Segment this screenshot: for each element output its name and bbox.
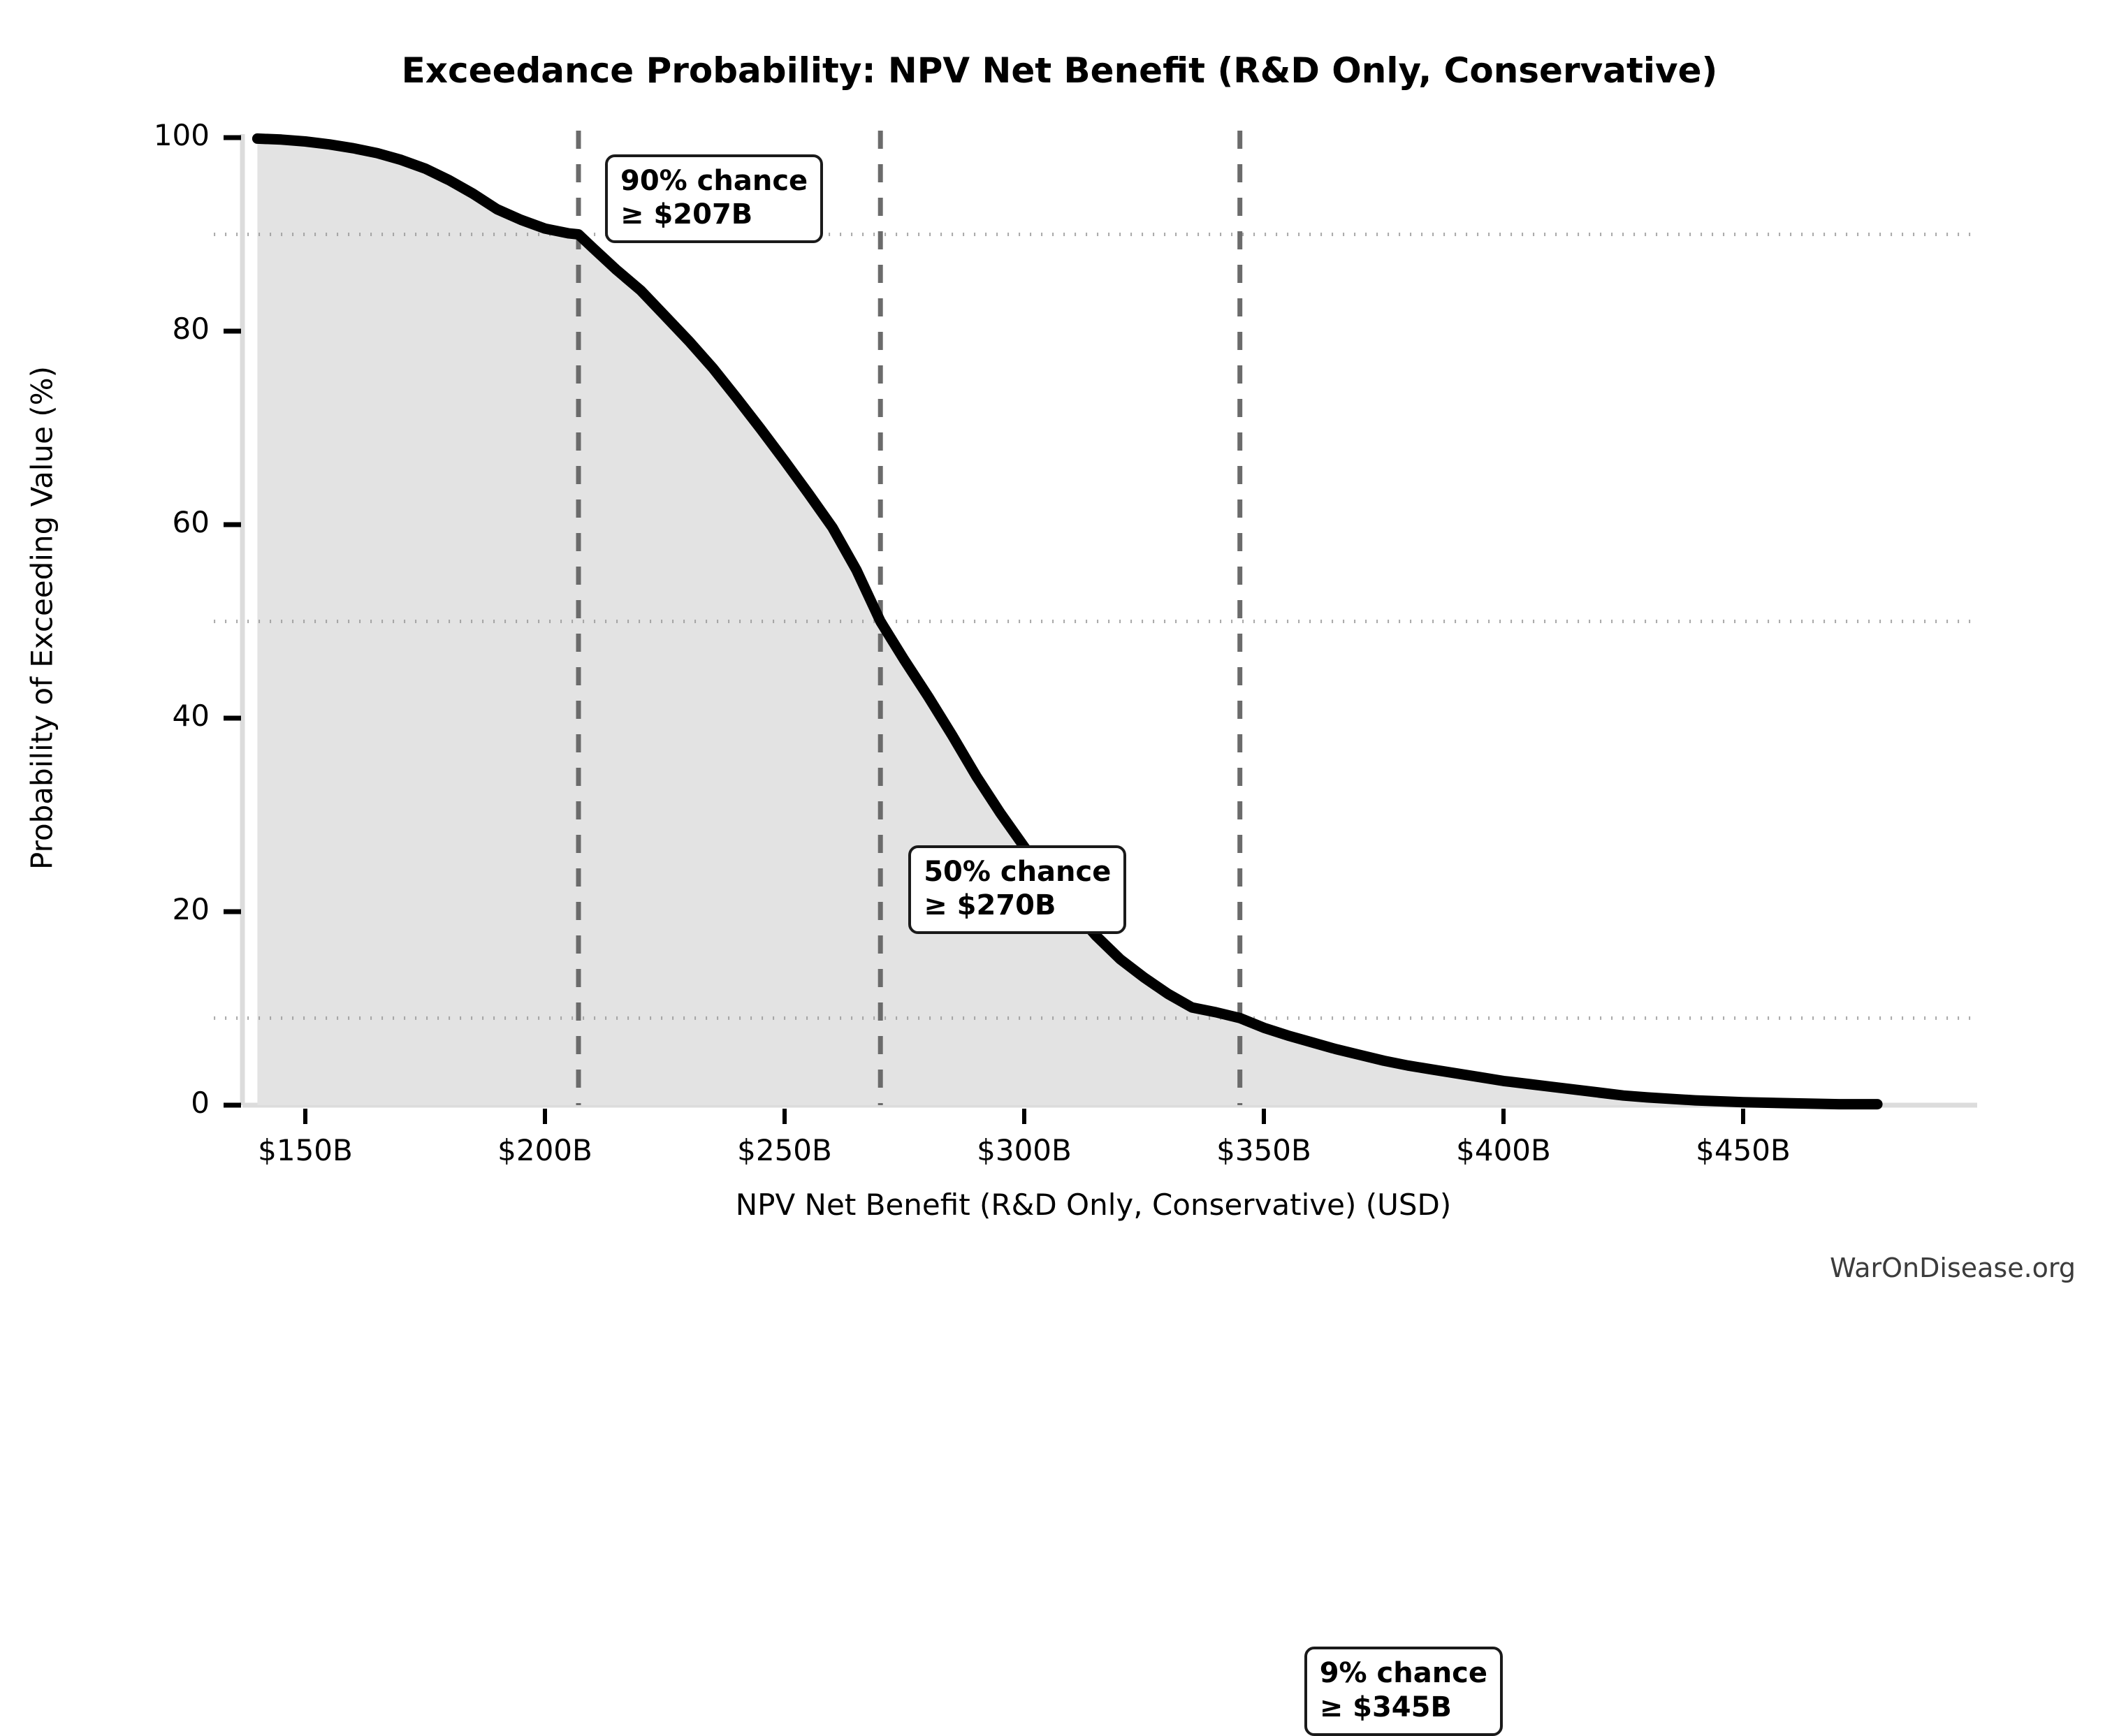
y-tick-label-40: 40	[84, 699, 210, 733]
x-tick-label-150: $150B	[207, 1133, 403, 1167]
y-tick-label-20: 20	[84, 892, 210, 926]
x-tick-label-450: $450B	[1645, 1133, 1841, 1167]
x-tick-label-350: $350B	[1166, 1133, 1362, 1167]
y-tick-label-80: 80	[84, 312, 210, 346]
annotation-p9: 9% chance ≥ $345B	[1304, 1647, 1503, 1736]
y-tick-label-100: 100	[84, 118, 210, 152]
x-tick-label-400: $400B	[1406, 1133, 1601, 1167]
annotation-p90: 90% chance ≥ $207B	[605, 154, 823, 244]
annotation-p50: 50% chance ≥ $270B	[908, 845, 1126, 935]
y-axis-label: Probability of Exceeding Value (%)	[25, 199, 59, 1037]
chart-figure: Exceedance Probability: NPV Net Benefit …	[0, 0, 2119, 1347]
watermark: WarOnDisease.org	[1830, 1253, 2076, 1283]
x-tick-label-300: $300B	[926, 1133, 1122, 1167]
y-tick-label-0: 0	[84, 1086, 210, 1120]
y-tick-label-60: 60	[84, 505, 210, 539]
x-axis-label: NPV Net Benefit (R&D Only, Conservative)…	[258, 1188, 1928, 1222]
x-tick-label-200: $200B	[447, 1133, 643, 1167]
x-tick-label-250: $250B	[687, 1133, 882, 1167]
